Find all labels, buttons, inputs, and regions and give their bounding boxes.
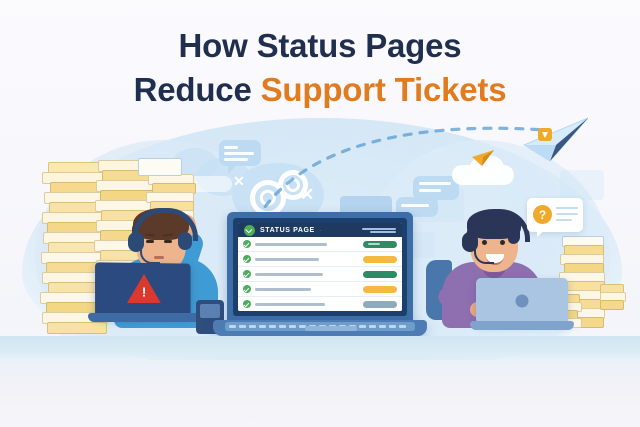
title-line-2-accent: Support Tickets [261,71,507,108]
keyboard-key [239,325,246,328]
chat-bubble-tail [228,165,237,174]
laptop-right-base [470,321,574,330]
laptop-center-bezel: STATUS PAGE · [233,218,407,316]
laptop-left-with-alert: ! [88,263,200,325]
status-row[interactable] [238,282,402,297]
laptop-right [470,278,574,334]
status-badge [363,286,397,293]
paper-plane-icon [516,115,596,175]
laptop-center-lid: STATUS PAGE · [227,212,413,324]
check-icon [243,285,251,293]
laptop-center-base [213,320,427,336]
illustration-canvas: ✕ ✕ [0,0,640,427]
paper-plane-icon-small [470,148,496,168]
laptop-left-base [88,313,200,322]
laptop-center: STATUS PAGE · [213,212,427,344]
x-icon: ✕ [233,174,245,188]
warning-exclamation: ! [142,285,146,298]
title-line-2: Reduce Support Tickets [0,68,640,112]
title-line-2-prefix: Reduce [134,71,261,108]
page-title: How Status Pages Reduce Support Tickets [0,24,640,111]
status-badge [363,241,397,248]
keyboard-key [229,325,236,328]
question-badge-icon: ? [533,205,552,224]
status-row[interactable] [238,267,402,282]
check-icon [243,240,251,248]
keyboard-key [269,325,276,328]
laptop-keyboard [225,322,415,331]
paper-sheet [600,300,624,310]
status-row[interactable] [238,252,402,267]
check-icon [243,255,251,263]
laptop-logo [516,295,529,308]
card-tail [537,230,545,237]
title-line-1: How Status Pages [0,24,640,68]
service-name [255,258,319,261]
status-page-screen: STATUS PAGE · [238,223,402,311]
chat-line [224,146,238,149]
status-page-brand: STATUS PAGE [260,227,315,234]
laptop-right-screen [476,278,568,324]
laptop-left-screen: ! [95,262,191,317]
laptop-trackpad [305,326,357,331]
check-icon [243,270,251,278]
status-ok-icon [244,225,255,236]
service-name [255,243,327,246]
keyboard-key [399,325,406,328]
check-icon [243,300,251,308]
keyboard-key [359,325,366,328]
status-page-brand-suffix: · [320,228,321,233]
status-badge [363,256,397,263]
status-row[interactable] [238,237,402,252]
status-row[interactable] [238,297,402,311]
keyboard-key [279,325,286,328]
keyboard-key [289,325,296,328]
status-page-header: STATUS PAGE · [238,223,402,237]
service-name [255,288,311,291]
status-badge [363,301,397,308]
keyboard-key [259,325,266,328]
keyboard-key [379,325,386,328]
status-rows [238,237,402,311]
service-name [255,303,325,306]
card-line [556,213,578,215]
card-line [556,219,572,221]
service-name [255,273,323,276]
floor-surface [0,360,640,427]
help-request-card: ? [527,198,583,232]
status-page-meta [362,228,396,233]
keyboard-key [369,325,376,328]
card-line [556,207,578,209]
envelope-icon [138,158,182,176]
keyboard-key [249,325,256,328]
keyboard-key [389,325,396,328]
status-badge [363,271,397,278]
